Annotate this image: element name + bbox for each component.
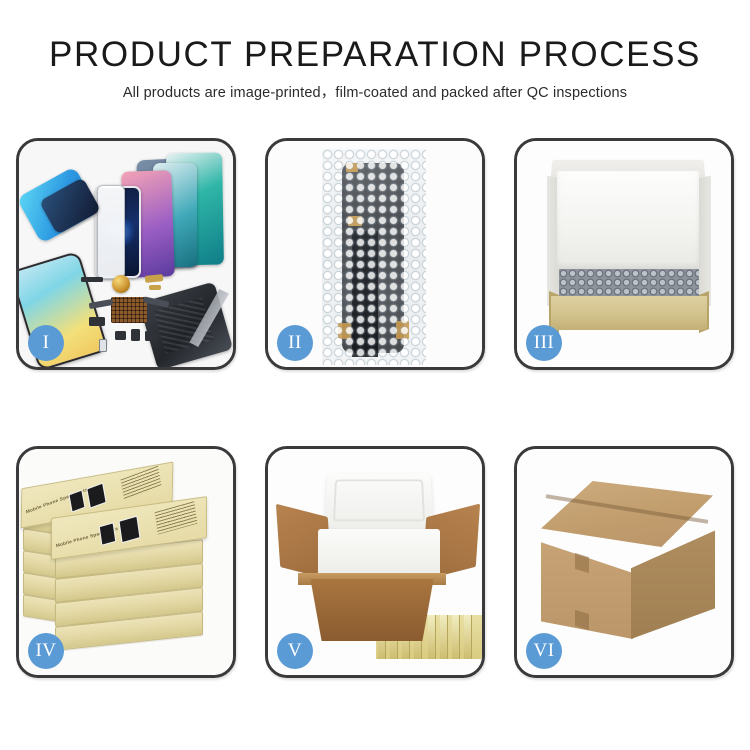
product-thumbnail: [68, 489, 85, 512]
small-component: [131, 329, 140, 341]
small-component: [99, 339, 107, 352]
small-component: [145, 331, 157, 341]
spec-lines: [120, 466, 161, 501]
page-title: PRODUCT PREPARATION PROCESS: [0, 34, 750, 76]
tape-strip: [338, 323, 351, 339]
small-component: [115, 331, 126, 340]
product-preparation-infographic: PRODUCT PREPARATION PROCESS All products…: [0, 0, 750, 750]
screen-protector-glass: [97, 185, 125, 279]
product-thumbnail: [118, 516, 140, 544]
step-panel-3: III: [514, 138, 734, 370]
small-component: [81, 277, 103, 282]
step-badge-1: I: [28, 325, 64, 361]
product-thumbnail: [99, 522, 117, 546]
step-panel-2: II: [265, 138, 485, 370]
wireless-charging-coil: [112, 275, 130, 293]
step-badge-5: V: [277, 633, 313, 669]
step-panel-4: Mobile Phone Spare Parts Mobile Phone Sp…: [16, 446, 236, 678]
header: PRODUCT PREPARATION PROCESS All products…: [0, 34, 750, 103]
small-component: [89, 317, 105, 326]
page-subtitle: All products are image-printed，film-coat…: [0, 83, 750, 103]
box-side-flap-right: [697, 176, 711, 308]
gold-connector: [149, 285, 161, 290]
spec-lines: [155, 501, 198, 534]
step-panel-6: VI: [514, 446, 734, 678]
carton-front-panel: [302, 579, 442, 641]
step-badge-6: VI: [526, 633, 562, 669]
product-thumbnail: [86, 483, 106, 509]
kraft-box-front: [551, 296, 707, 330]
step-panel-1: I: [16, 138, 236, 370]
step-badge-2: II: [277, 325, 313, 361]
tape-strip: [396, 321, 409, 339]
logic-board-chip: [111, 297, 147, 323]
tape-strip: [348, 216, 362, 226]
step-panel-5: V: [265, 446, 485, 678]
step-badge-4: IV: [28, 633, 64, 669]
white-foam-sheet: [557, 171, 699, 269]
step-badge-3: III: [526, 325, 562, 361]
wrapped-phone-part-core: [352, 231, 378, 357]
tape-strip: [346, 163, 358, 172]
steps-grid: I II: [16, 138, 734, 678]
styrofoam-lid: [324, 473, 433, 528]
